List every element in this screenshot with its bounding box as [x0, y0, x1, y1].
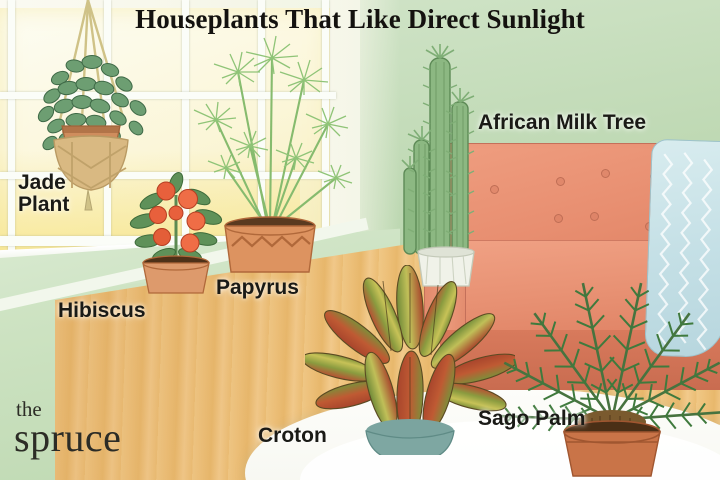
page-title: Houseplants That Like Direct Sunlight [0, 4, 720, 35]
label-hibiscus: Hibiscus [58, 300, 146, 322]
macrame-tassel [85, 190, 92, 210]
label-sago-palm: Sago Palm [478, 408, 585, 430]
label-african-milk-tree: African Milk Tree [478, 112, 646, 134]
papyrus-stems [216, 58, 336, 228]
sago-pot [564, 432, 660, 476]
illustration-canvas: Houseplants That Like Direct Sunlight Ja… [0, 0, 720, 480]
label-jade-plant: Jade Plant [18, 172, 69, 217]
plant-sago-palm [500, 250, 720, 480]
sofa-tuft [554, 214, 563, 223]
sofa-tuft [590, 212, 599, 221]
brand-logo-spruce: spruce [14, 419, 121, 457]
sofa-tuft [601, 169, 610, 178]
brand-logo: the spruce [14, 400, 121, 457]
window-mullion [8, 0, 15, 252]
label-croton: Croton [258, 425, 327, 447]
plant-hibiscus [118, 155, 234, 295]
label-papyrus: Papyrus [216, 277, 299, 299]
plant-african-milk-tree [392, 40, 492, 290]
sofa-tuft [556, 177, 565, 186]
